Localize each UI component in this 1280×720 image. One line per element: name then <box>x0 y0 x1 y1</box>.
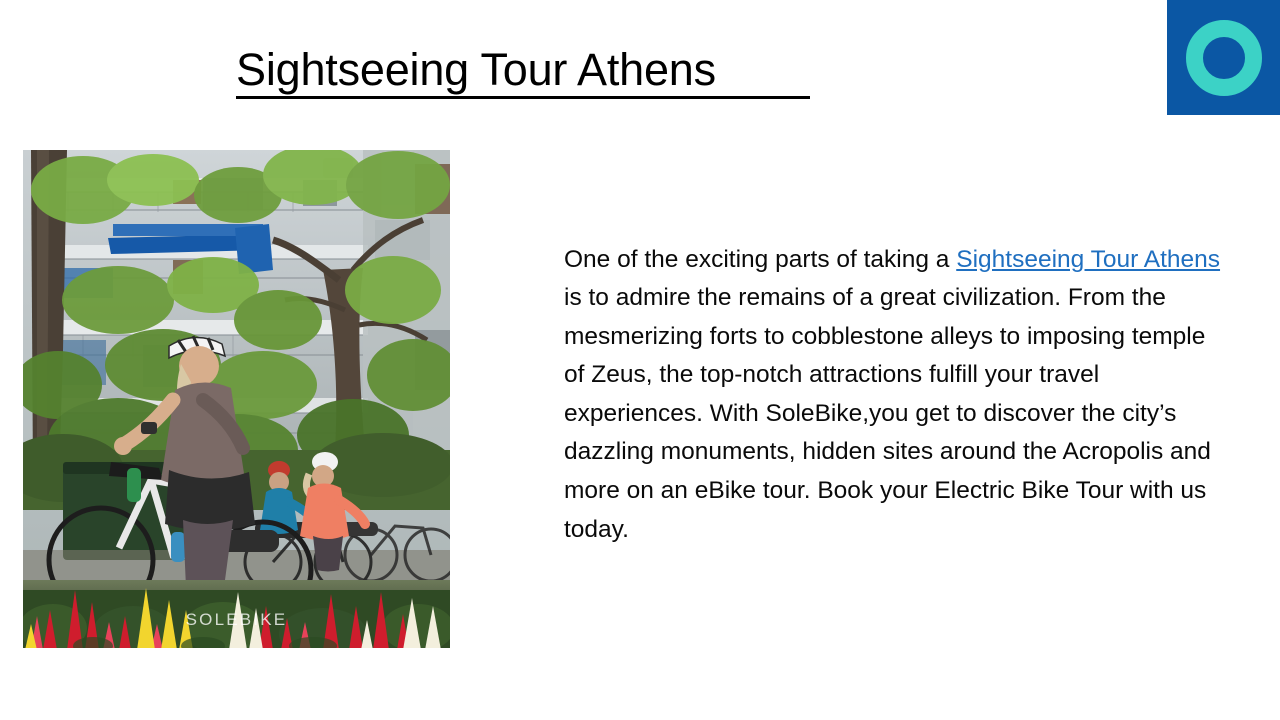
slide-canvas: Sightseeing Tour Athens <box>0 0 1280 720</box>
brand-logo <box>1167 0 1280 115</box>
tour-photo-illustration <box>23 150 450 648</box>
body-paragraph: One of the exciting parts of taking a Si… <box>564 241 1224 550</box>
paragraph-text-before-link: One of the exciting parts of taking a <box>564 246 956 273</box>
ring-circle-icon <box>1186 20 1262 96</box>
sightseeing-tour-athens-link[interactable]: Sightseeing Tour Athens <box>956 246 1220 273</box>
title-underline <box>236 96 810 99</box>
page-title: Sightseeing Tour Athens <box>236 43 716 97</box>
paragraph-text-after-link: is to admire the remains of a great civi… <box>564 284 1211 543</box>
tour-photo: SOLEBIKE <box>23 150 450 648</box>
